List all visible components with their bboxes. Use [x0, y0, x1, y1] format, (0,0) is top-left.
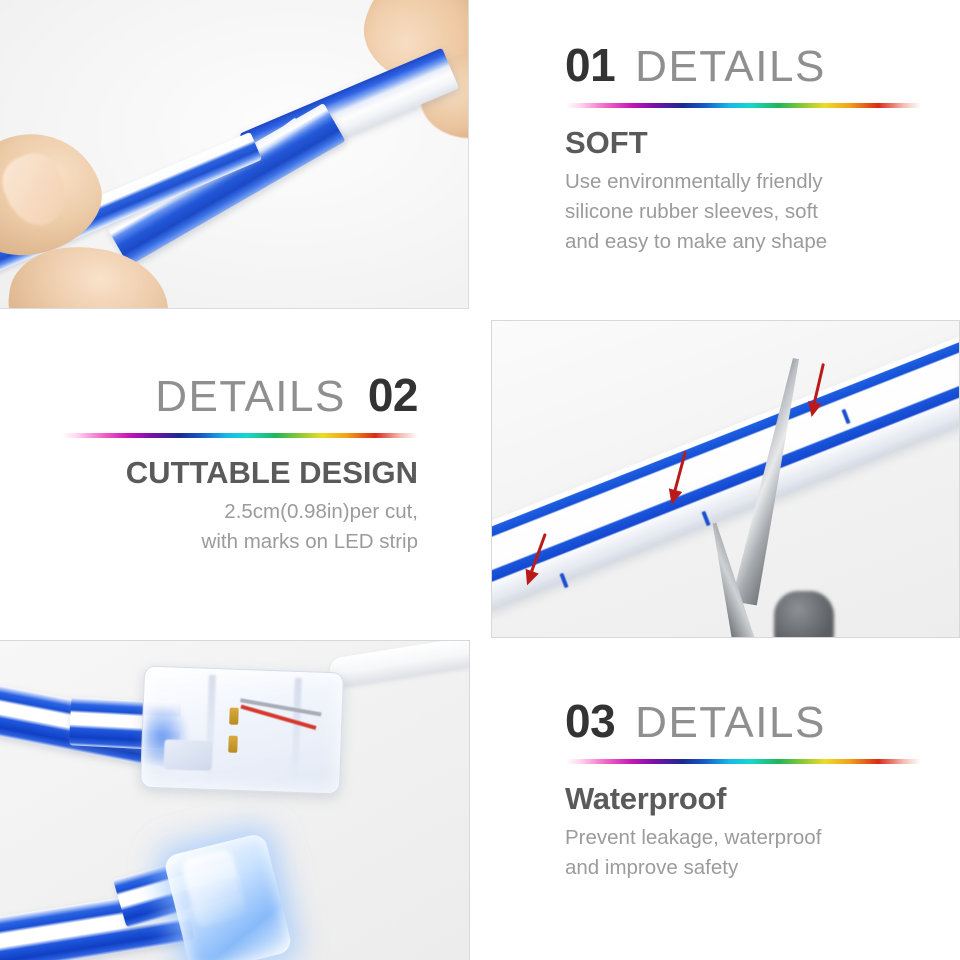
- text-block-waterproof: 03 DETAILS Waterproof Prevent leakage, w…: [565, 694, 921, 883]
- kicker-soft: 01 DETAILS: [565, 38, 921, 92]
- body-line: Prevent leakage, waterproof: [565, 823, 921, 853]
- body-line: silicone rubber sleeves, soft: [565, 197, 921, 227]
- headline-waterproof: Waterproof: [565, 781, 921, 817]
- body-line: 2.5cm(0.98in)per cut,: [62, 497, 418, 527]
- section-kicker-word: DETAILS: [635, 42, 826, 92]
- photo-panel-cuttable: [491, 320, 960, 638]
- text-block-cuttable: DETAILS 02 CUTTABLE DESIGN 2.5cm(0.98in)…: [62, 368, 418, 557]
- section-kicker-word: DETAILS: [155, 372, 346, 422]
- photo-panel-soft: [0, 0, 469, 309]
- section-kicker-word: DETAILS: [635, 698, 826, 748]
- body-copy-soft: Use environmentally friendly silicone ru…: [565, 167, 921, 257]
- waterproof-connector: [140, 666, 344, 795]
- body-line: and easy to make any shape: [565, 227, 921, 257]
- rainbow-divider: [62, 433, 418, 438]
- kicker-waterproof: 03 DETAILS: [565, 694, 921, 748]
- headline-cuttable: CUTTABLE DESIGN: [62, 455, 418, 491]
- kicker-cuttable: DETAILS 02: [62, 368, 418, 422]
- connector-pin: [228, 736, 238, 753]
- rainbow-divider: [565, 103, 921, 108]
- connector-pin: [229, 708, 239, 725]
- section-number: 01: [565, 38, 615, 92]
- section-number: 02: [368, 368, 418, 422]
- scissors-pivot-icon: [774, 591, 834, 638]
- photo-panel-waterproof: [0, 640, 470, 960]
- rainbow-divider: [565, 759, 921, 764]
- body-line: with marks on LED strip: [62, 527, 418, 557]
- body-line: and improve safety: [565, 853, 921, 883]
- body-line: Use environmentally friendly: [565, 167, 921, 197]
- section-number: 03: [565, 694, 615, 748]
- body-copy-cuttable: 2.5cm(0.98in)per cut, with marks on LED …: [62, 497, 418, 557]
- headline-soft: SOFT: [565, 125, 921, 161]
- body-copy-waterproof: Prevent leakage, waterproof and improve …: [565, 823, 921, 883]
- connector-rib: [291, 678, 302, 788]
- connector-window: [164, 739, 213, 771]
- text-block-soft: 01 DETAILS SOFT Use environmentally frie…: [565, 38, 921, 257]
- infographic-sheet: 01 DETAILS SOFT Use environmentally frie…: [0, 0, 960, 960]
